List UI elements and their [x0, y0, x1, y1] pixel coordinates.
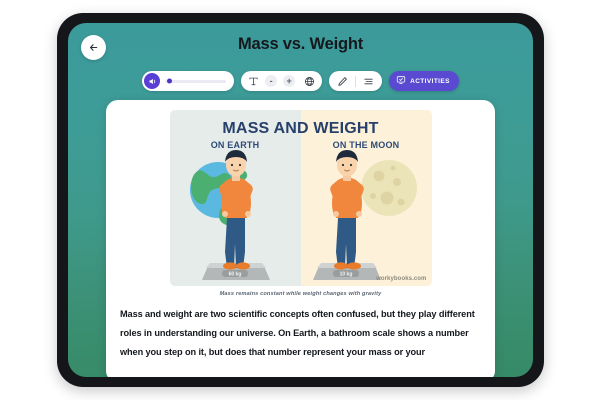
moon-label: ON THE MOON: [301, 140, 432, 150]
app-header: Mass vs. Weight: [68, 23, 533, 71]
audio-player-control: [142, 71, 234, 91]
text-settings-control: - +: [241, 71, 322, 91]
pencil-edit-icon[interactable]: [337, 76, 348, 87]
typography-T-icon[interactable]: [248, 76, 259, 87]
illustration-figure: ON EARTH 60 kg: [170, 110, 432, 297]
watermark: workybooks.com: [376, 276, 426, 282]
globe-icon[interactable]: [304, 76, 315, 87]
decrease-text-size-button[interactable]: -: [265, 75, 277, 87]
toolbar-divider: [355, 76, 356, 87]
tablet-device-frame: Mass vs. Weight: [57, 13, 544, 387]
audio-slider-thumb[interactable]: [167, 79, 172, 84]
svg-text:60 kg: 60 kg: [228, 272, 241, 278]
page-title: Mass vs. Weight: [68, 35, 533, 54]
tablet-screen: Mass vs. Weight: [68, 23, 533, 377]
illustration-caption: Mass remains constant while weight chang…: [170, 291, 432, 297]
activities-button[interactable]: ACTIVITIES: [389, 71, 459, 91]
mass-and-weight-illustration: ON EARTH 60 kg: [170, 110, 432, 286]
list-lines-icon[interactable]: [363, 76, 374, 87]
illustration-title: MASS AND WEIGHT: [170, 120, 432, 138]
increase-text-size-button[interactable]: +: [283, 75, 295, 87]
audio-progress-slider[interactable]: [165, 80, 226, 83]
monitor-check-icon: [396, 72, 406, 90]
svg-text:10 kg: 10 kg: [339, 272, 352, 278]
lesson-content-card: ON EARTH 60 kg: [106, 100, 495, 377]
lesson-paragraph: Mass and weight are two scientific conce…: [120, 305, 481, 362]
toolbar: - +: [68, 71, 533, 91]
speaker-volume-icon[interactable]: [144, 73, 160, 89]
activities-label: ACTIVITIES: [410, 78, 450, 85]
annotation-tools-control: [329, 71, 382, 91]
earth-label: ON EARTH: [170, 140, 301, 150]
